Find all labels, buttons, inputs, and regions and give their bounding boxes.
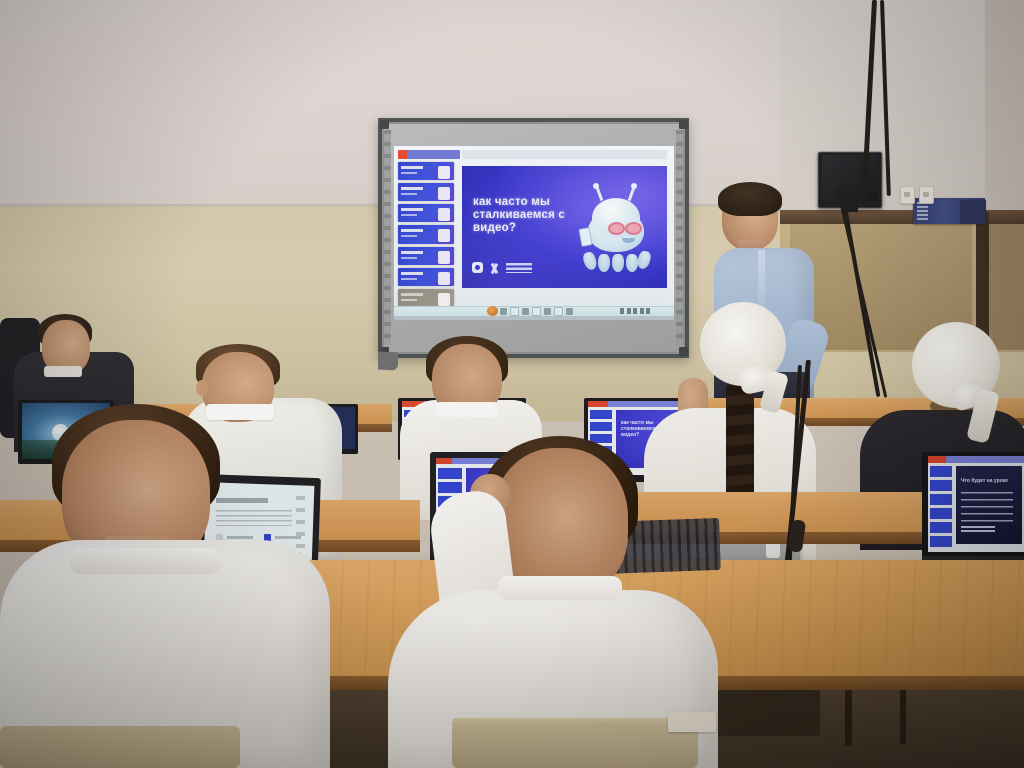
desk-leg (900, 690, 906, 744)
system-tray[interactable] (620, 308, 650, 314)
mascot-head (592, 198, 640, 238)
whiteboard-rail-left (384, 130, 391, 345)
mascot-tentacle (626, 254, 638, 272)
student-front-left-collar (70, 548, 220, 574)
slide-logo-row (472, 262, 532, 273)
student-back-3-collar (436, 402, 498, 417)
editor-titlebar-accent (398, 150, 460, 159)
thumbnail-image-icon (438, 187, 450, 200)
chair-far-dark[interactable] (700, 690, 820, 736)
tray-icon[interactable] (640, 308, 644, 314)
mascot-antenna-bulb-left (593, 183, 599, 189)
form-paragraph (216, 510, 292, 526)
tray-icon[interactable] (627, 308, 631, 314)
mascot-antenna-bulb-right (631, 183, 637, 189)
whiteboard-pen-tray (378, 351, 398, 370)
slide-thumbnail[interactable] (398, 247, 454, 265)
taskbar-icon[interactable] (566, 308, 573, 315)
slide-thumbnail[interactable] (398, 183, 454, 201)
slide-thumbnail[interactable] (398, 268, 454, 286)
taskbar-icon[interactable] (510, 307, 519, 316)
laptop-right-slide-title: Что будет на уроке (961, 478, 1015, 484)
chair-beige-left[interactable] (0, 726, 240, 768)
paper-on-desk[interactable] (668, 712, 716, 732)
mascot-tentacle (582, 251, 599, 272)
whiteboard-corner-br (679, 347, 688, 356)
slide-thumbnail-inactive[interactable] (398, 289, 454, 307)
student-back-2-collar (206, 404, 274, 420)
wall-socket-1[interactable] (900, 186, 915, 204)
tray-icon[interactable] (620, 308, 624, 314)
mascot-antenna-right (628, 187, 635, 201)
thumbnail-image-icon (438, 251, 450, 264)
editor-titlebar (462, 150, 667, 159)
student-back-left-collar (44, 366, 82, 377)
checkbox-logo-icon (472, 262, 483, 273)
taskbar-icon[interactable] (554, 307, 563, 316)
student-back-2-ear (196, 380, 208, 396)
octopus-mascot-icon (578, 188, 654, 272)
books-stack-secondary (960, 200, 986, 224)
mascot-tentacle (598, 254, 610, 272)
mascot-tentacle (636, 250, 652, 271)
taskbar-icon[interactable] (522, 308, 529, 315)
whiteboard-corner-tr (679, 120, 688, 129)
thumbnail-image-icon (438, 272, 450, 285)
wall-monitor-screen (822, 155, 878, 201)
laptop-thumbnail-strip[interactable] (930, 466, 952, 548)
shelf-cell-right (989, 224, 1024, 350)
x-mark-logo-icon (490, 263, 499, 273)
wall-socket-2[interactable] (919, 186, 934, 204)
taskbar-icon[interactable] (500, 308, 507, 315)
whiteboard-corner-tl (380, 120, 389, 129)
wall-corner-right (985, 0, 1024, 230)
laptop-right-slide-logo (961, 526, 995, 534)
mascot-eye-left (608, 222, 625, 235)
classroom-photo: как часто мы сталкиваемся с видео? (0, 0, 1024, 768)
whiteboard-rail-right (676, 130, 683, 345)
start-button-icon[interactable] (487, 306, 498, 316)
slide-thumbnail[interactable] (398, 162, 454, 180)
thumbnail-image-icon (438, 229, 450, 242)
taskbar-icon[interactable] (544, 308, 551, 315)
thumbnail-image-icon (438, 208, 450, 221)
slide-thumbnail-panel[interactable] (398, 162, 454, 307)
desk-leg (845, 690, 852, 746)
projection-bottom-edge (394, 316, 674, 320)
laptop-editor-titlebar (928, 456, 1024, 463)
mascot-eye-right (625, 222, 642, 235)
form-heading (216, 498, 268, 503)
student-front-center-collar (498, 576, 622, 600)
slide-thumbnail[interactable] (398, 204, 454, 222)
thumbnail-image-icon (438, 293, 450, 306)
laptop-right-slide-bullets (961, 492, 1013, 522)
thumbnail-image-icon (438, 166, 450, 179)
option-label (227, 536, 253, 539)
teacher-hair (718, 182, 782, 216)
tray-icon[interactable] (633, 308, 637, 314)
slide-thumbnail[interactable] (398, 225, 454, 243)
slide-title: как часто мы сталкиваемся с видео? (473, 196, 577, 235)
chair-beige-center[interactable] (452, 724, 698, 768)
wordmark-logo-icon (506, 263, 532, 273)
taskbar-icon[interactable] (532, 307, 541, 316)
taskbar-icon-group[interactable] (500, 307, 573, 316)
tray-icon[interactable] (646, 308, 650, 314)
mascot-tentacle (612, 254, 624, 272)
mascot-antenna-left (596, 187, 603, 201)
